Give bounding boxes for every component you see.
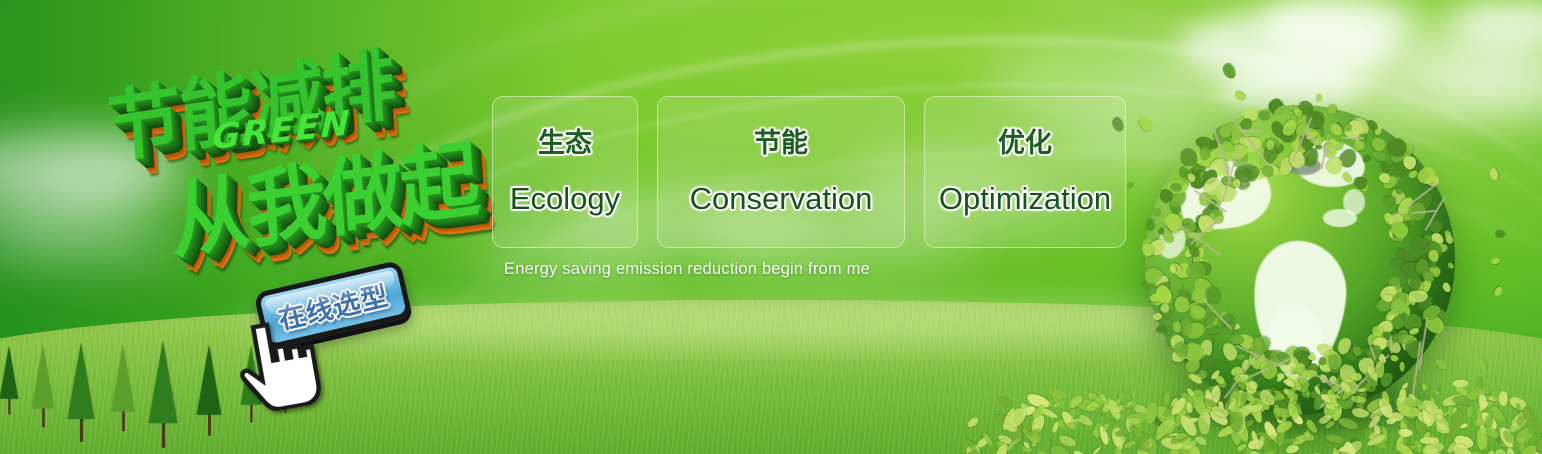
feature-card-title-cn: 生态 — [538, 130, 592, 157]
leaf-icon — [1492, 396, 1500, 400]
continent-island — [1343, 189, 1365, 215]
feature-card-list: 生态 Ecology 节能 Conservation 优化 Optimizati… — [492, 96, 1126, 248]
leaf-icon — [1339, 364, 1356, 382]
leaf-icon — [1429, 250, 1439, 262]
feature-card-title-cn: 优化 — [998, 130, 1052, 157]
feature-card-ecology[interactable]: 生态 Ecology — [492, 96, 638, 248]
feature-card-title-en: Optimization — [939, 183, 1111, 214]
leaf-icon — [1169, 265, 1176, 274]
leaf-icon — [1306, 431, 1310, 442]
leaf-icon — [1400, 361, 1405, 371]
tree-icon — [0, 345, 18, 414]
leaf-icon — [1153, 313, 1162, 320]
leaf-icon — [1308, 354, 1316, 360]
feature-card-title-cn: 节能 — [754, 130, 808, 157]
tree-icon — [197, 344, 222, 435]
hand-pointer-icon — [229, 311, 328, 416]
tree-icon — [111, 345, 134, 431]
feature-card-conservation[interactable]: 节能 Conservation — [657, 96, 905, 248]
tree-icon — [32, 345, 54, 428]
banner-tagline: Energy saving emission reduction begin f… — [504, 260, 870, 279]
leaf-icon — [1327, 104, 1336, 114]
tree-icon — [148, 340, 177, 448]
hero-title-3d: 节能减排 从我做起 GREEN — [88, 25, 493, 282]
feature-card-title-en: Conservation — [690, 183, 873, 214]
tree-icon — [67, 342, 94, 442]
eco-promo-banner: 节能减排 从我做起 GREEN 在线选型 生态 Ecology 节能 Conse… — [0, 0, 1542, 454]
feature-card-optimization[interactable]: 优化 Optimization — [924, 96, 1126, 248]
leaf-icon — [1402, 437, 1407, 445]
vine-icon — [1389, 336, 1392, 353]
feature-card-title-en: Ecology — [510, 183, 620, 214]
